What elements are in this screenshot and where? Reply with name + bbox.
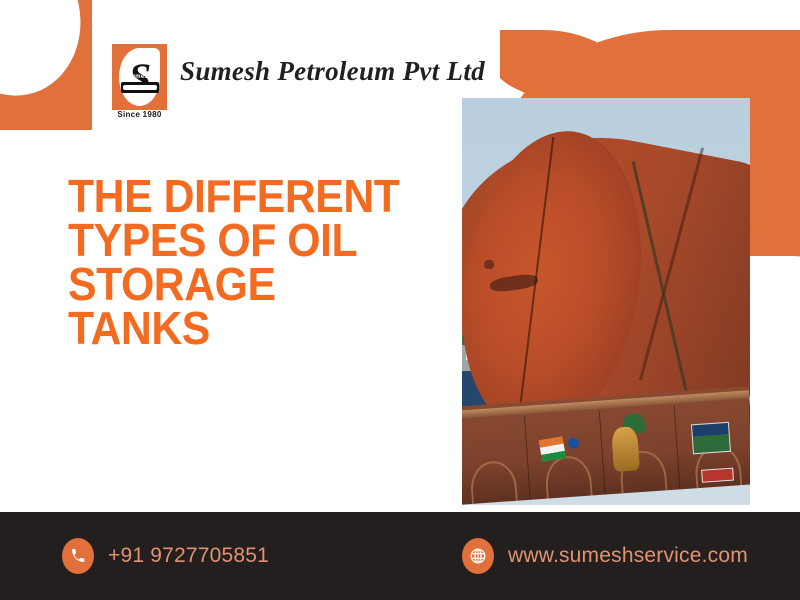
headline-line-2: TYPES OF OIL <box>68 218 421 262</box>
globe-icon <box>462 538 494 574</box>
brand-name-text: Sumesh Petroleum Pvt Ltd <box>180 56 485 87</box>
phone-number-text: +91 9727705851 <box>108 544 269 568</box>
logo-band-shape <box>121 82 159 93</box>
photo-gold-sticker <box>611 427 640 473</box>
photo-panel-arch <box>469 460 517 504</box>
photo-panel-arch <box>544 455 592 499</box>
photo-tank-scuff-small <box>484 260 494 269</box>
photo-trailer-panel <box>600 406 681 495</box>
photo-trailer-panel <box>462 416 531 505</box>
hero-photo-oil-tank <box>462 98 750 505</box>
logo-mark-icon: S Sumesh <box>112 44 167 110</box>
website-url-text: www.sumeshservice.com <box>508 544 748 568</box>
photo-red-sticker <box>701 468 734 483</box>
headline-line-1: THE DIFFERENT <box>68 174 421 218</box>
headline-line-3: STORAGE <box>68 262 421 306</box>
footer-bar: +91 9727705851 www.sumeshservice.com <box>0 512 800 600</box>
phone-icon <box>62 538 94 574</box>
poster-canvas: S Sumesh Sumesh Petroleum Pvt Ltd Since … <box>0 0 800 600</box>
page-title: THE DIFFERENT TYPES OF OIL STORAGE TANKS <box>68 174 421 351</box>
logo-since-text: Since 1980 <box>112 110 167 119</box>
photo-truck-trailer <box>462 386 750 505</box>
logo-divider <box>112 108 167 109</box>
headline-line-4: TANKS <box>68 306 421 350</box>
photo-blue-sticker <box>568 437 580 449</box>
logo-monogram-name: Sumesh <box>112 74 167 80</box>
photo-trailer-panel <box>525 411 606 500</box>
brand-logo[interactable]: S Sumesh Sumesh Petroleum Pvt Ltd <box>112 44 485 110</box>
photo-trailer-panels <box>462 400 750 505</box>
photo-flag-sticker <box>539 436 566 462</box>
photo-trailer-panel <box>675 400 750 489</box>
contact-phone[interactable]: +91 9727705851 <box>62 538 269 574</box>
contact-website[interactable]: www.sumeshservice.com <box>462 538 748 574</box>
hero-photo-frame <box>462 98 750 505</box>
photo-plate-sticker <box>691 422 731 455</box>
logo-band-inner <box>123 85 157 90</box>
